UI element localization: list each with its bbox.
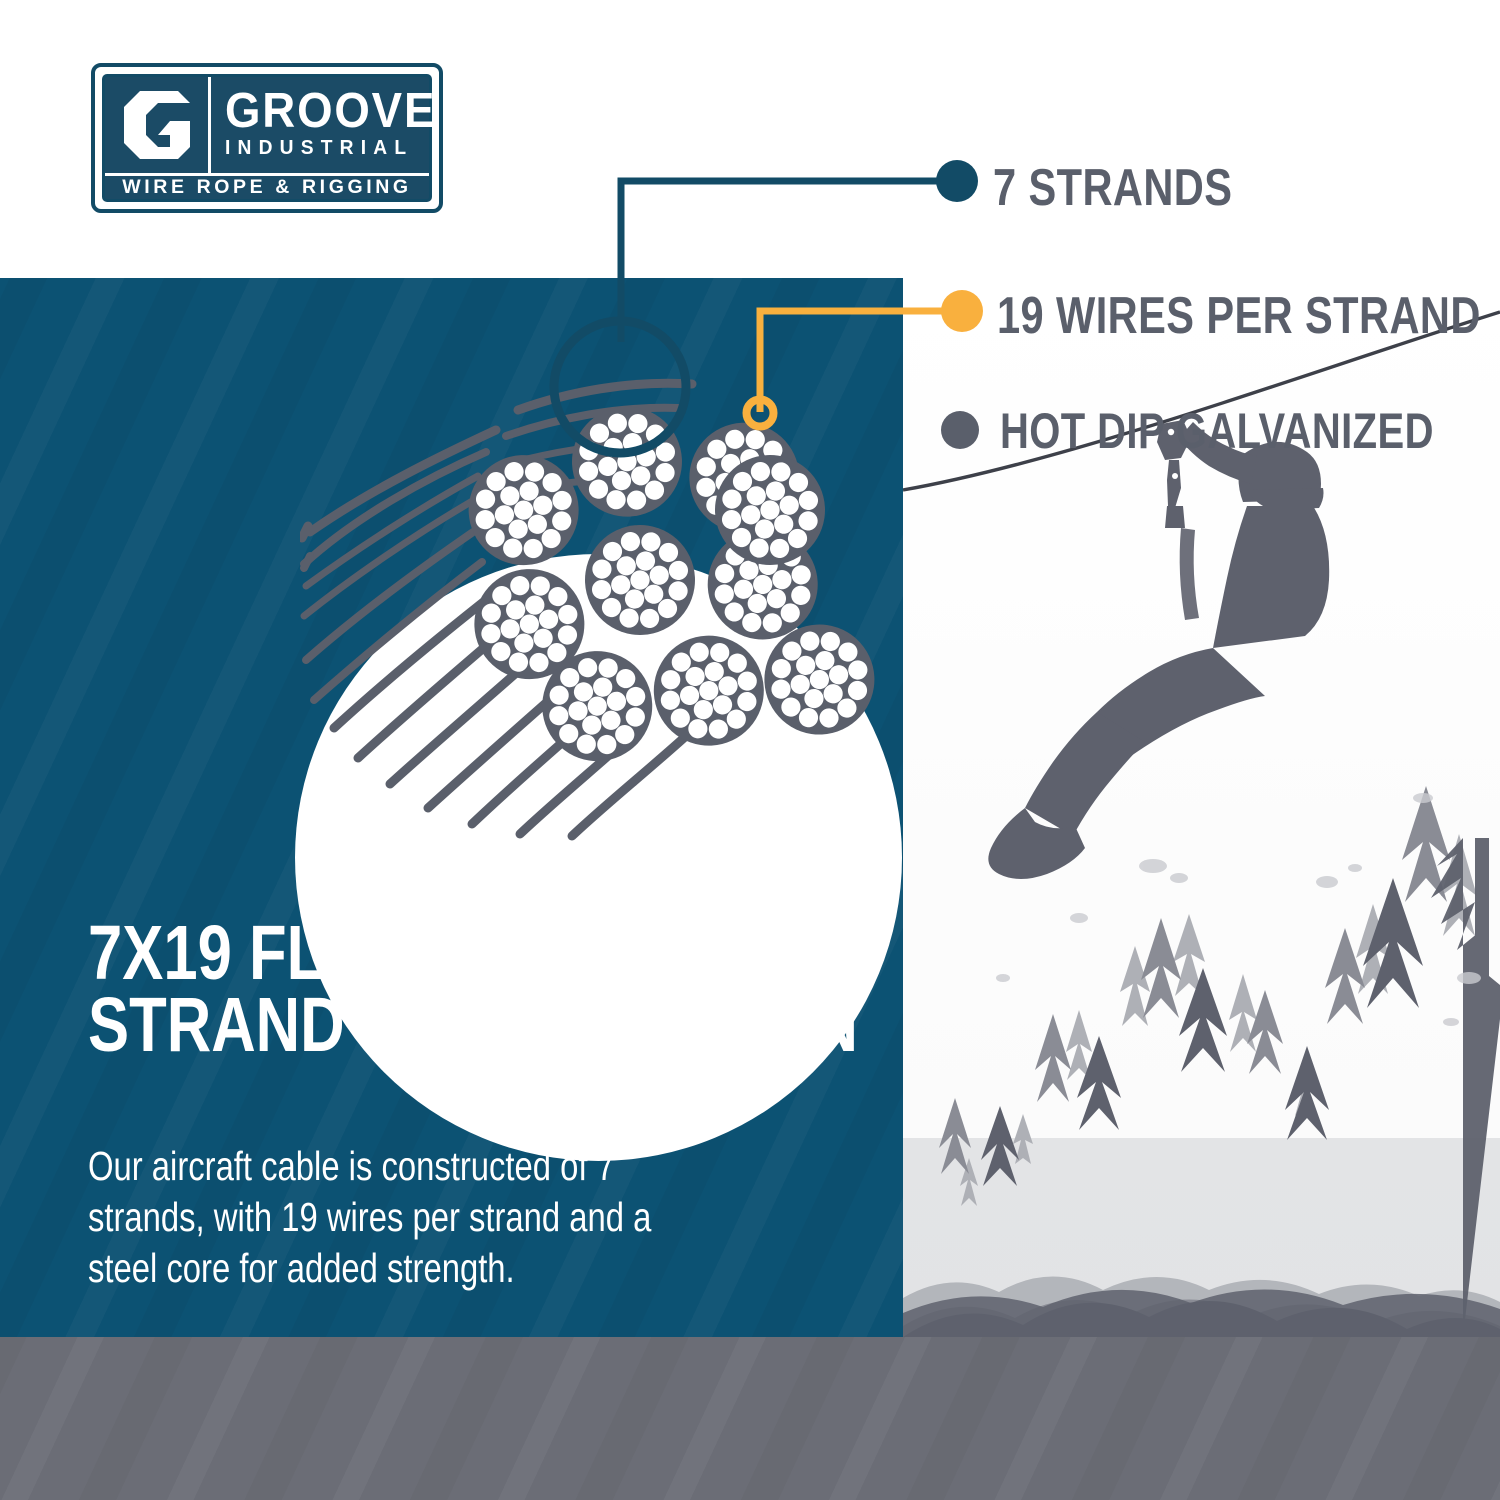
body-line-2: strands, with 19 wires per strand and a: [88, 1192, 760, 1243]
callout-label-strands: 7 STRANDS: [993, 158, 1232, 218]
page-title: 7X19 FLEXIBLE STRAND CONSTRUCTION: [88, 918, 728, 1061]
body-line-1: Our aircraft cable is constructed of 7: [88, 1141, 760, 1192]
headline-line-1: 7X19 FLEXIBLE: [88, 918, 728, 990]
callout-label-hot-dip-galvanized: HOT DIP GALVANIZED: [1000, 402, 1434, 460]
body-copy: Our aircraft cable is constructed of 7 s…: [88, 1141, 760, 1293]
logo-tagline: WIRE ROPE & RIGGING: [122, 176, 411, 199]
callout-dot-wires: [941, 290, 983, 332]
headline-line-2: STRAND CONSTRUCTION: [88, 990, 728, 1062]
connector-line-strands: [621, 181, 952, 342]
groove-g-monogram-icon: [105, 77, 211, 173]
logo-brand-name: GROOVE: [225, 90, 436, 132]
callout-dot-galvanized: [941, 411, 979, 449]
brand-logo: GROOVE INDUSTRIAL WIRE ROPE & RIGGING: [91, 63, 443, 213]
connector-line-wires: [760, 311, 956, 412]
body-line-3: steel core for added strength.: [88, 1243, 760, 1294]
infographic-canvas: 7 STRANDS 19 WIRES PER STRAND HOT DIP GA…: [0, 0, 1500, 1500]
callout-label-wires-per-strand: 19 WIRES PER STRAND: [997, 286, 1481, 346]
logo-sub-brand: INDUSTRIAL: [225, 137, 443, 160]
callout-dot-strands: [936, 160, 978, 202]
